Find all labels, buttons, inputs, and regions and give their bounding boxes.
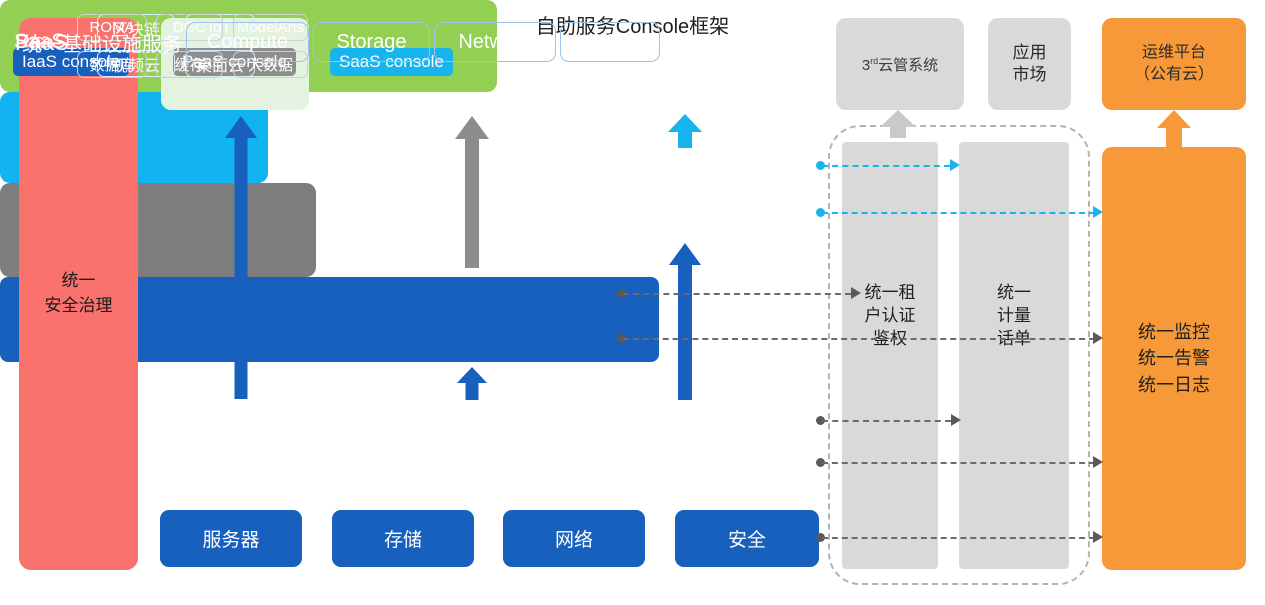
- security-governance-line1: 统一: [45, 269, 113, 294]
- app-market-box: 应用 市场: [988, 18, 1071, 110]
- unified-billing-label: 统一 计量 话单: [959, 282, 1069, 351]
- security-governance-line2: 安全治理: [45, 294, 113, 319]
- security-governance-panel: 统一 安全治理: [19, 18, 138, 570]
- connector-arrowhead-paas-ops: [1093, 332, 1103, 344]
- ops-panel-line2: 统一告警: [1138, 345, 1210, 371]
- connector-arrowhead-paas-auth: [851, 287, 861, 299]
- architecture-diagram: 统一 安全治理 API网关 自助服务Console框架 IaaS console…: [0, 0, 1265, 605]
- connector-paas-to-auth: [623, 293, 851, 295]
- app-market-line1: 应用: [1013, 42, 1047, 64]
- iaas-chip-network: Network: [434, 22, 556, 62]
- connector-arrowhead-iaas-auth: [951, 414, 961, 426]
- arrow-ops-panel-to-ops-platform: [1157, 110, 1191, 148]
- infra-box-server: 服务器: [160, 510, 302, 567]
- connector-arrowhead-infra-ops: [1093, 531, 1103, 543]
- arrow-saas-to-console: [668, 114, 702, 148]
- connector-arrowhead-saas-ops: [1093, 206, 1103, 218]
- infra-box-network: 网络: [503, 510, 645, 567]
- arrow-iaas-to-saas: [669, 243, 701, 400]
- auth-line2: 户认证: [842, 305, 938, 328]
- bill-line2: 计量: [959, 305, 1069, 328]
- connector-iaas-to-auth: [822, 420, 951, 422]
- bill-line1: 统一: [959, 282, 1069, 305]
- connector-paas-to-ops: [623, 338, 1095, 340]
- arrow-iaas-to-api-gateway: [225, 116, 257, 399]
- connector-arrowhead-iaas-ops: [1093, 456, 1103, 468]
- connector-infra-to-ops: [822, 537, 1095, 539]
- iaas-chip-cce: CCE: [560, 22, 660, 62]
- unified-monitoring-panel: 统一监控 统一告警 统一日志: [1102, 147, 1246, 570]
- ops-panel-line1: 统一监控: [1138, 319, 1210, 345]
- arrow-iaas-to-paas: [456, 367, 488, 400]
- ops-platform-box: 运维平台 （公有云）: [1102, 18, 1246, 110]
- third-party-cloud-management-box: 3rd云管系统: [836, 18, 964, 110]
- infra-box-security: 安全: [675, 510, 819, 567]
- unified-billing-column: [959, 142, 1069, 569]
- iaas-chip-compute: Compute: [186, 22, 309, 62]
- arrow-shared-zone-to-third-cloud: [880, 110, 916, 138]
- connector-saas-to-auth: [822, 165, 950, 167]
- connector-arrowhead-saas-auth: [950, 159, 960, 171]
- unified-tenant-auth-column: [842, 142, 938, 569]
- ops-platform-line2: （公有云）: [1134, 64, 1214, 86]
- third-party-cloud-management-label: 3rd云管系统: [862, 54, 938, 75]
- iaas-chip-storage: Storage: [313, 22, 430, 62]
- ops-platform-line1: 运维平台: [1134, 42, 1214, 64]
- iaas-layer-label: 统一基础设施服务: [22, 28, 182, 57]
- arrow-paas-to-console: [455, 116, 489, 268]
- infra-box-storage: 存储: [332, 510, 474, 567]
- ops-panel-line3: 统一日志: [1138, 372, 1210, 398]
- connector-iaas-to-ops: [822, 462, 1095, 464]
- app-market-line2: 市场: [1013, 64, 1047, 86]
- connector-saas-to-ops: [822, 212, 1095, 214]
